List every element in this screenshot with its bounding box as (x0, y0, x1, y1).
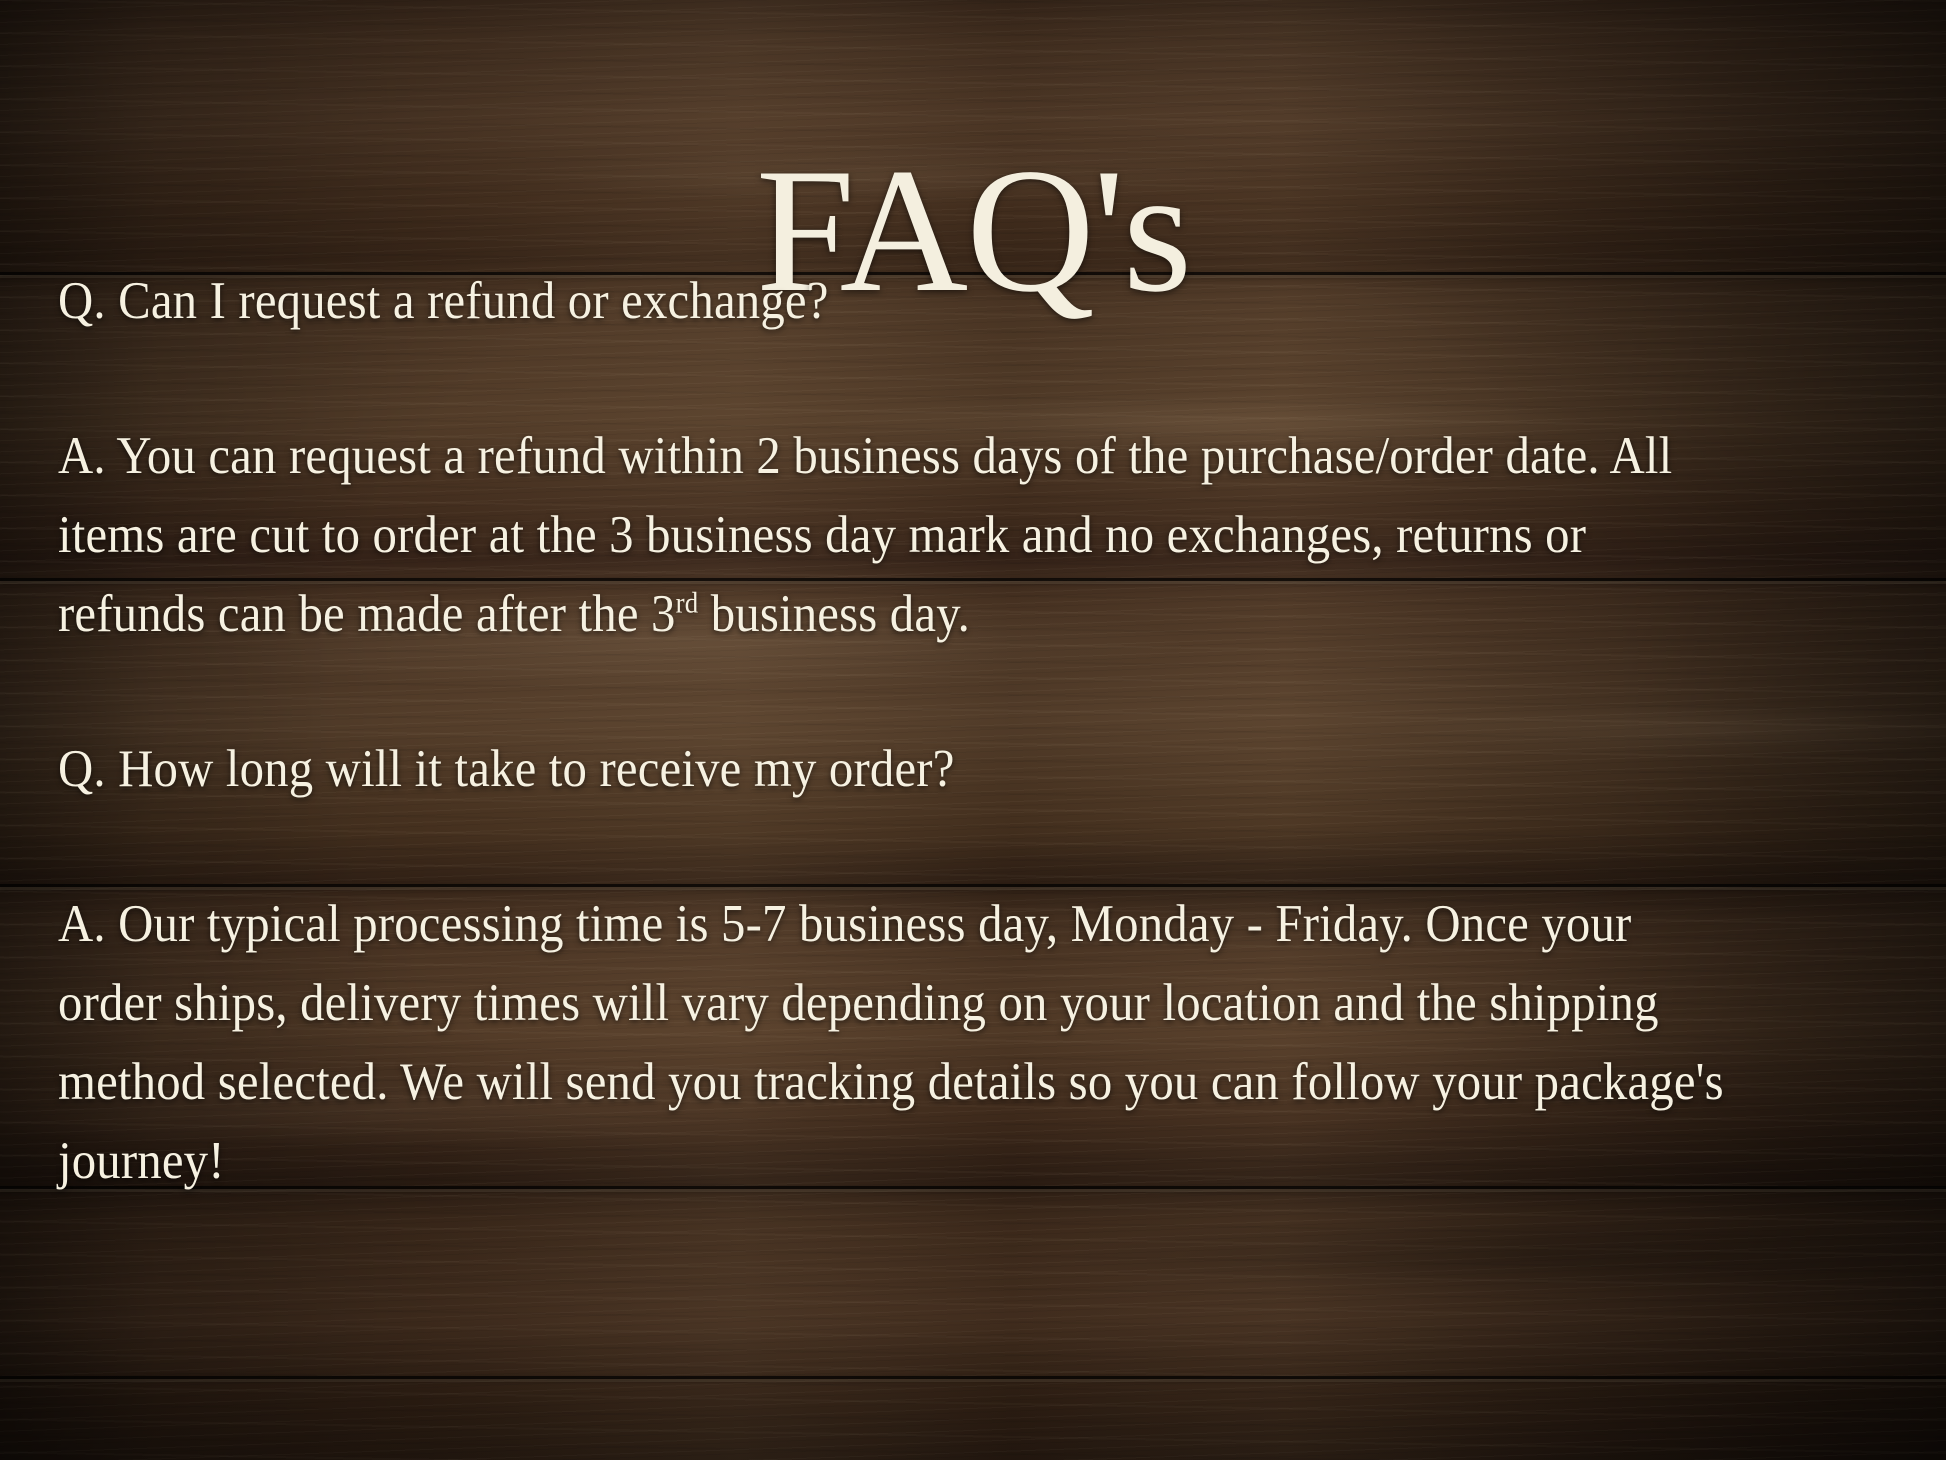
faq-content: FAQ's Q. Can I request a refund or excha… (0, 0, 1946, 1460)
faq-question-refund-exchange: Q. Can I request a refund or exchange? (58, 262, 1742, 341)
faq-answer-delivery-time: A. Our typical processing time is 5-7 bu… (58, 885, 1742, 1201)
ordinal-suffix: rd (676, 587, 699, 619)
faq-page: FAQ's Q. Can I request a refund or excha… (0, 0, 1946, 1460)
faq-list: Q. Can I request a refund or exchange? A… (58, 262, 1742, 1201)
faq-question-delivery-time: Q. How long will it take to receive my o… (58, 730, 1742, 809)
faq-answer-refund-exchange: A. You can request a refund within 2 bus… (58, 417, 1742, 654)
faq-answer-text-part2: business day. (698, 585, 970, 643)
